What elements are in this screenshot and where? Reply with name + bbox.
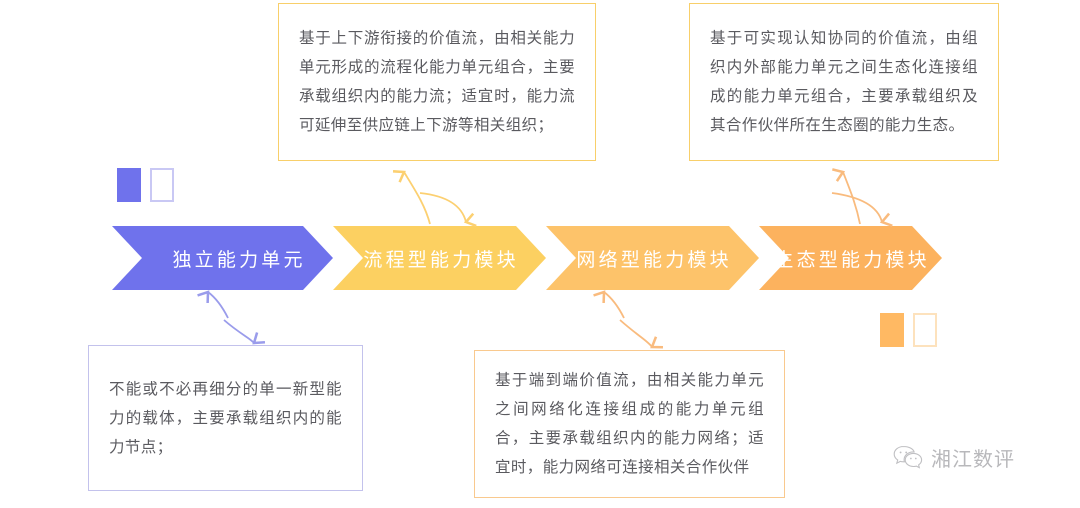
watermark-text: 湘江数评 [931, 443, 1015, 472]
chevron-label-unit: 独立能力单元 [142, 226, 333, 290]
chevron-label-eco: 生态型能力模块 [759, 226, 942, 290]
watermark: 湘江数评 [893, 443, 1015, 472]
wechat-icon [893, 445, 923, 471]
chevron-label-process: 流程型能力模块 [333, 226, 546, 290]
chevron-label-network: 网络型能力模块 [546, 226, 759, 290]
chevron-label-layer: 独立能力单元 流程型能力模块 网络型能力模块 生态型能力模块 [108, 226, 940, 290]
diagram-canvas: 基于上下游衔接的价值流，由相关能力单元形成的流程化能力单元组合，主要承载组织内的… [0, 0, 1080, 508]
